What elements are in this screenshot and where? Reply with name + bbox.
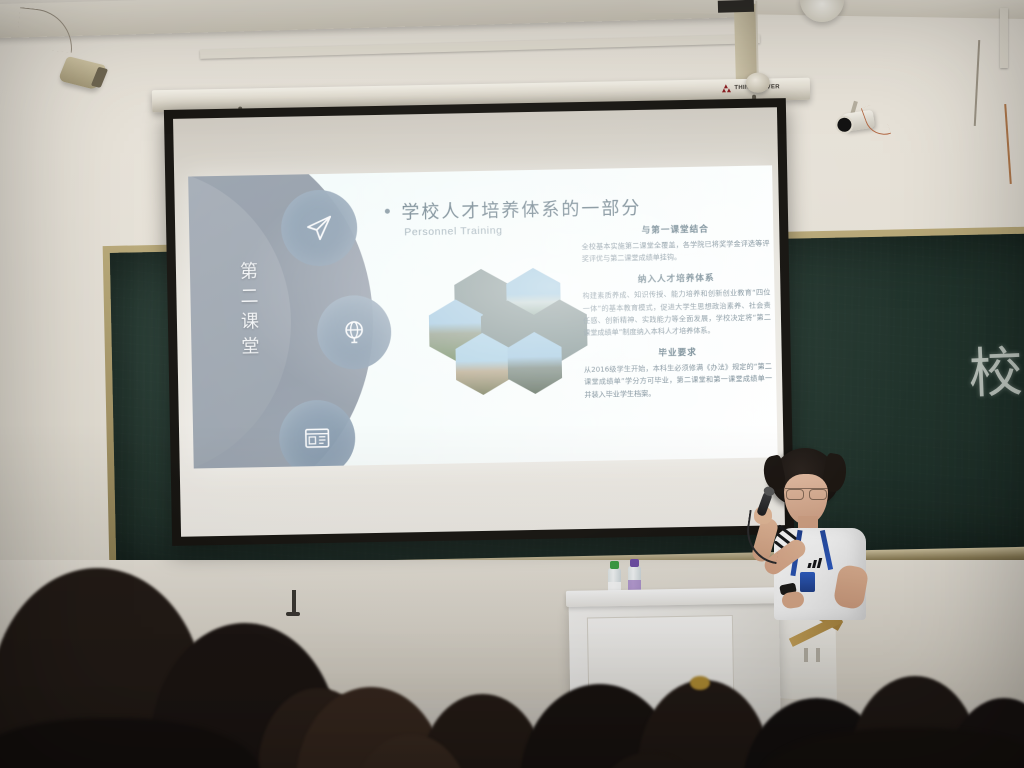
audience-head: [78, 724, 228, 768]
id-badge: [800, 572, 815, 592]
slide-heading-bullet: [385, 209, 390, 214]
glasses-icon: [785, 488, 828, 497]
slide-vertical-title: 第二课堂: [234, 261, 262, 361]
presentation-slide: 第二课堂: [188, 165, 777, 468]
wall-conduit-vertical: [1000, 8, 1008, 68]
paper-plane-icon: [304, 213, 335, 244]
adidas-logo-icon: [808, 558, 822, 568]
speaker-person: [740, 448, 870, 618]
bottle-cap: [610, 561, 619, 569]
hexagon-photo-cluster: [428, 267, 591, 420]
podium-slot-2: [816, 648, 820, 662]
audience-shoulder: [760, 728, 1024, 768]
audience-head: [944, 698, 1024, 768]
chalk-writing: 校: [967, 327, 1024, 409]
mitsubishi-three-diamond-icon: [722, 84, 731, 92]
wall-hook-icon: [292, 590, 296, 616]
lecture-hall-photo: 校 THINKLEAVER 第二课堂: [0, 0, 1024, 768]
podium-body: [569, 600, 782, 764]
slide-section-body-3: 从2016级学生开始，本科生必须修满《办法》规定的“第二课堂成绩单”学分方可毕业…: [584, 361, 773, 401]
slide-section-body-2: 构建素质养成、知识传授、能力培养和创新创业教育“四位一体”的基本教育模式，促进大…: [582, 287, 771, 339]
bottle-cap: [630, 559, 639, 567]
slide-text-column: 与第一课堂结合 全校基本实施第二课堂全覆盖，各学院已将奖学金评选等评奖评优与第二…: [581, 221, 773, 409]
slide-section-title-1: 与第一课堂结合: [581, 221, 769, 237]
slide-section-body-1: 全校基本实施第二课堂全覆盖，各学院已将奖学金评选等评奖评优与第二课堂成绩单挂钩。: [581, 237, 769, 265]
slide-section-title-2: 纳入人才培养体系: [582, 271, 770, 287]
slide-icon-circle-2: [316, 295, 391, 370]
slide-heading-zh: 学校人才培养体系的一部分: [401, 194, 641, 225]
audience-head: [352, 734, 470, 768]
audience-head: [420, 694, 545, 768]
podium-slot-1: [804, 648, 808, 662]
presentation-board-icon: [302, 423, 333, 454]
globe-icon: [339, 317, 370, 348]
audience-head: [258, 688, 378, 768]
podium-front-panel: [587, 615, 735, 714]
projector-screen-frame: 第二课堂: [164, 98, 794, 546]
projector-screen-surface: 第二课堂: [173, 107, 785, 537]
slide-section-title-3: 毕业要求: [584, 345, 772, 361]
audience-shoulder: [0, 718, 260, 768]
lower-wall: [0, 560, 1024, 700]
